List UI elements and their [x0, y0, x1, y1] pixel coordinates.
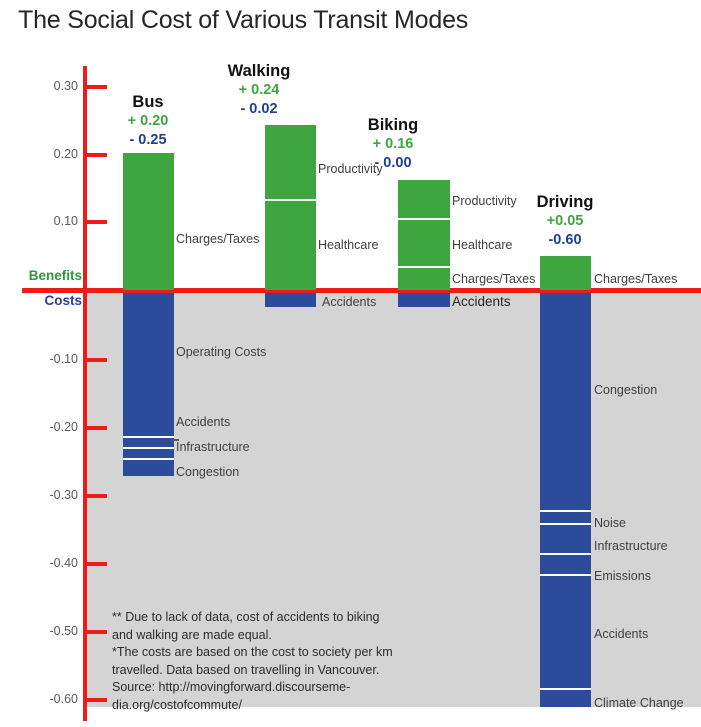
mode-cost-bus: - 0.25: [73, 131, 223, 150]
segment-walking-healthcare[interactable]: [265, 201, 316, 290]
footnote-line-2: and walking are made equal.: [112, 627, 412, 645]
tick-label-0.20: 0.20: [18, 147, 78, 161]
segment-driving-noise[interactable]: [540, 512, 591, 525]
label-biking-charges-taxes: Charges/Taxes: [452, 272, 535, 286]
label-bus-charges-taxes: Charges/Taxes: [176, 232, 259, 246]
segment-biking-healthcare[interactable]: [398, 220, 450, 268]
label-bus-operating-costs: Operating Costs: [176, 345, 266, 359]
segment-biking-accidents[interactable]: [398, 293, 450, 307]
benefits-axis-label: Benefits: [4, 268, 82, 283]
bar-walking-costs[interactable]: [265, 293, 316, 307]
costs-axis-label: Costs: [4, 293, 82, 308]
tick-mark-0.20: [87, 153, 107, 157]
mode-header-biking: Biking + 0.16 - 0.00: [318, 116, 468, 173]
segment-bus-charges-taxes[interactable]: [123, 153, 174, 290]
tick-mark-0.10: [87, 220, 107, 224]
mode-benefit-biking: + 0.16: [318, 135, 468, 154]
mode-benefit-driving: +0.05: [490, 212, 640, 231]
chart-canvas: The Social Cost of Various Transit Modes…: [0, 0, 701, 727]
label-biking-accidents: Accidents: [452, 294, 511, 309]
mode-name-driving: Driving: [490, 193, 640, 212]
segment-bus-congestion[interactable]: [123, 460, 174, 476]
tick-label-0.30: 0.30: [18, 79, 78, 93]
bar-driving-benefits[interactable]: [540, 256, 591, 290]
tick-mark--0.50: [87, 630, 107, 634]
tick-label--0.30: -0.30: [18, 488, 78, 502]
page-title: The Social Cost of Various Transit Modes: [18, 6, 468, 35]
mode-name-walking: Walking: [184, 62, 334, 81]
segment-driving-emissions[interactable]: [540, 555, 591, 576]
mode-cost-driving: -0.60: [490, 231, 640, 250]
footnote-line-1: ** Due to lack of data, cost of accident…: [112, 609, 412, 627]
tick-label--0.20: -0.20: [18, 420, 78, 434]
label-driving-congestion: Congestion: [594, 383, 657, 397]
mode-benefit-walking: + 0.24: [184, 81, 334, 100]
label-driving-climate-change: Climate Change: [594, 696, 684, 710]
tick-label--0.50: -0.50: [18, 624, 78, 638]
label-walking-healthcare: Healthcare: [318, 238, 378, 252]
segment-driving-congestion[interactable]: [540, 293, 591, 512]
tick-label--0.10: -0.10: [18, 352, 78, 366]
label-driving-emissions: Emissions: [594, 569, 651, 583]
bar-walking-benefits[interactable]: [265, 125, 316, 290]
label-bus-congestion: Congestion: [176, 465, 239, 479]
segment-walking-productivity[interactable]: [265, 125, 316, 201]
mode-name-biking: Biking: [318, 116, 468, 135]
segment-bus-accidents[interactable]: [123, 438, 174, 449]
leader-line-bus-infrastructure: [170, 439, 179, 441]
tick-mark--0.60: [87, 698, 107, 702]
segment-driving-charges-taxes[interactable]: [540, 256, 591, 290]
footnote-line-4: travelled. Data based on travelling in V…: [112, 662, 412, 680]
mode-header-driving: Driving +0.05 -0.60: [490, 193, 640, 250]
segment-driving-accidents[interactable]: [540, 576, 591, 690]
label-driving-noise: Noise: [594, 516, 626, 530]
segment-bus-infrastructure[interactable]: [123, 449, 174, 460]
segment-biking-charges-taxes[interactable]: [398, 268, 450, 290]
segment-biking-productivity[interactable]: [398, 180, 450, 220]
bar-biking-costs[interactable]: [398, 293, 450, 307]
mode-cost-walking: - 0.02: [184, 100, 334, 119]
tick-mark--0.40: [87, 562, 107, 566]
mode-header-walking: Walking + 0.24 - 0.02: [184, 62, 334, 119]
tick-mark-0.30: [87, 85, 107, 89]
segment-bus-operating-costs[interactable]: [123, 293, 174, 438]
segment-walking-accidents[interactable]: [265, 293, 316, 307]
bar-biking-benefits[interactable]: [398, 180, 450, 290]
label-driving-charges-taxes: Charges/Taxes: [594, 272, 677, 286]
bar-bus-costs[interactable]: [123, 293, 174, 476]
bar-driving-costs[interactable]: [540, 293, 591, 707]
y-axis-line: [83, 66, 87, 721]
segment-driving-infrastructure[interactable]: [540, 525, 591, 555]
segment-driving-climate-change[interactable]: [540, 690, 591, 707]
footnote-line-3: *The costs are based on the cost to soci…: [112, 644, 412, 662]
mode-cost-biking: - 0.00: [318, 154, 468, 173]
label-driving-infrastructure: Infrastructure: [594, 539, 668, 553]
footnote-line-5: Source: http://movingforward.discourseme…: [112, 679, 412, 697]
label-walking-accidents: Accidents: [322, 295, 376, 309]
label-bus-accidents: Accidents: [176, 415, 230, 429]
bar-bus-benefits[interactable]: [123, 153, 174, 290]
footnote-block: ** Due to lack of data, cost of accident…: [112, 609, 412, 714]
footnote-line-6: dia.org/costofcommute/: [112, 697, 412, 715]
tick-label-0.10: 0.10: [18, 214, 78, 228]
label-driving-accidents: Accidents: [594, 627, 648, 641]
label-bus-infrastructure: Infrastructure: [176, 440, 250, 454]
tick-mark--0.30: [87, 494, 107, 498]
tick-mark--0.20: [87, 426, 107, 430]
tick-label--0.40: -0.40: [18, 556, 78, 570]
tick-mark--0.10: [87, 358, 107, 362]
tick-label--0.60: -0.60: [18, 692, 78, 706]
